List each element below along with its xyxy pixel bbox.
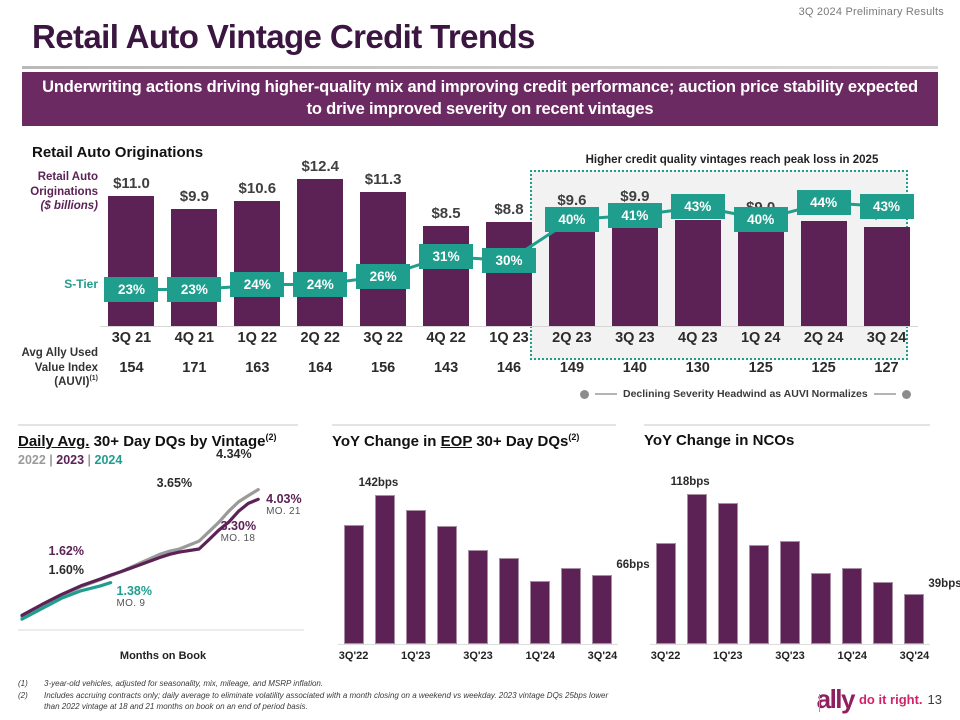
y-axis-label-line1: Retail Auto <box>38 171 98 183</box>
severity-note-end-dot <box>902 390 911 399</box>
nco-x-axis <box>650 644 930 645</box>
line-annotation: 4.34% <box>216 447 251 461</box>
mini-x-tick-label: 1Q'24 <box>822 650 882 662</box>
line-annotation-month: MO. 18 <box>221 533 256 544</box>
bar-value-label: $11.0 <box>96 175 166 192</box>
mini-bar <box>468 550 488 645</box>
stier-value-node: 44% <box>797 190 851 215</box>
origination-bar <box>171 209 217 326</box>
line-annotation-value: 1.60% <box>49 563 84 577</box>
origination-bar <box>297 179 343 326</box>
line-annotation-month: MO. 9 <box>117 598 152 609</box>
line-annotation-value: 1.38% <box>117 584 152 598</box>
quarter-label: 3Q 21 <box>96 330 166 346</box>
auvi-value: 125 <box>726 360 796 376</box>
origination-bar <box>108 196 154 326</box>
mini-x-tick-label: 1Q'23 <box>698 650 758 662</box>
mini-bar-value-label: 118bps <box>671 476 710 488</box>
main-chart-plot-area: $11.0$9.9$10.6$12.4$11.3$8.5$8.8$9.6$9.9… <box>100 170 918 326</box>
mini-bar <box>437 526 457 644</box>
origination-bar <box>738 220 784 326</box>
page-title: Retail Auto Vintage Credit Trends <box>32 18 535 56</box>
mini-x-tick-label: 1Q'23 <box>386 650 446 662</box>
panel-title-eop: YoY Change in EOP 30+ Day DQs(2) <box>332 432 579 450</box>
mini-bar <box>749 545 769 644</box>
severity-note-right-line <box>874 393 896 395</box>
footnote-number: (1) <box>18 678 36 690</box>
months-on-book-label: Months on Book <box>18 650 308 662</box>
mini-x-tick-label: 3Q'24 <box>572 650 632 662</box>
mini-bar-value-label: 142bps <box>359 477 399 489</box>
mini-bar <box>811 573 831 644</box>
panel-divider <box>644 424 930 426</box>
auvi-value: 125 <box>789 360 859 376</box>
yoy-eop-dq-panel: YoY Change in EOP 30+ Day DQs(2) 3Q'2214… <box>332 424 632 674</box>
origination-bar <box>423 226 469 326</box>
stier-axis-label: S-Tier <box>8 277 98 291</box>
quarter-label: 3Q 22 <box>348 330 418 346</box>
auvi-value: 171 <box>159 360 229 376</box>
quarter-label: 1Q 22 <box>222 330 292 346</box>
stier-value-node: 41% <box>608 203 662 228</box>
mini-bar <box>592 575 612 644</box>
panel-title-eop-a: YoY Change in <box>332 433 441 450</box>
auvi-value: 140 <box>600 360 670 376</box>
quarter-label: 4Q 21 <box>159 330 229 346</box>
origination-bar <box>801 221 847 326</box>
mini-x-tick-label: 3Q'23 <box>760 650 820 662</box>
severity-note-start-dot <box>580 390 589 399</box>
line-annotation-value: 3.30% <box>221 519 256 533</box>
stier-value-node: 40% <box>545 207 599 232</box>
panel-divider <box>332 424 616 426</box>
line-annotation: 3.30%MO. 18 <box>221 519 256 544</box>
yoy-nco-panel: YoY Change in NCOs 3Q'22118bps1Q'233Q'23… <box>644 424 944 674</box>
auvi-value: 154 <box>96 360 166 376</box>
logo-tagline: do it right. <box>859 693 923 706</box>
eop-bars-plot <box>338 476 618 644</box>
auvi-value: 149 <box>537 360 607 376</box>
auvi-value: 163 <box>222 360 292 376</box>
logo-wordmark: ally <box>817 686 854 712</box>
mini-bar <box>842 568 862 644</box>
quarter-label: 3Q 23 <box>600 330 670 346</box>
panel-title-eop-b: 30+ Day DQs <box>472 433 568 450</box>
origination-bar <box>675 220 721 326</box>
auvi-label-line3: (AUVI) <box>54 376 89 388</box>
quarter-label: 2Q 22 <box>285 330 355 346</box>
stier-value-node: 24% <box>230 272 284 297</box>
severity-note-left-line <box>595 393 617 395</box>
quarter-label: 2Q 23 <box>537 330 607 346</box>
eop-x-axis <box>338 644 618 645</box>
panel-divider <box>18 424 298 426</box>
auvi-value: 156 <box>348 360 418 376</box>
mini-x-tick-label: 3Q'22 <box>636 650 696 662</box>
line-annotation: 1.38%MO. 9 <box>117 584 152 609</box>
quarter-label: 4Q 23 <box>663 330 733 346</box>
mini-bar <box>718 503 738 644</box>
mini-bar <box>561 568 581 644</box>
footnote-text: Includes accruing contracts only; daily … <box>44 690 618 713</box>
quarter-label: 3Q 24 <box>852 330 922 346</box>
footnote-text: 3-year-old vehicles, adjusted for season… <box>44 678 323 690</box>
panel-title-dq-footnote: (2) <box>265 432 276 442</box>
ally-logo: ally do it right. 13 <box>817 686 942 712</box>
stier-value-node: 31% <box>419 244 473 269</box>
bar-value-label: $10.6 <box>222 180 292 197</box>
mini-bar <box>499 558 519 644</box>
key-message-banner: Underwriting actions driving higher-qual… <box>22 72 938 126</box>
key-message-text: Underwriting actions driving higher-qual… <box>40 77 920 121</box>
panel-title-nco: YoY Change in NCOs <box>644 432 794 449</box>
footnote-row: (1)3-year-old vehicles, adjusted for sea… <box>18 678 618 690</box>
bar-value-label: $8.5 <box>411 205 481 222</box>
quarter-label: 4Q 22 <box>411 330 481 346</box>
stier-value-node: 24% <box>293 272 347 297</box>
auvi-value: 130 <box>663 360 733 376</box>
line-annotation-value: 4.03% <box>266 492 301 506</box>
daily-avg-dq-panel: Daily Avg. 30+ Day DQs by Vintage(2) 202… <box>18 424 318 674</box>
auvi-axis-label: Avg Ally Used Value Index (AUVI)(1) <box>4 346 98 390</box>
severity-note-text: Declining Severity Headwind as AUVI Norm… <box>623 388 868 400</box>
line-annotation-value: 3.65% <box>157 476 192 490</box>
mini-bar <box>873 582 893 644</box>
preliminary-results-eyebrow: 3Q 2024 Preliminary Results <box>799 6 944 18</box>
mini-bar-value-label: 39bps <box>928 578 960 590</box>
y-axis-label-line2: Originations <box>30 186 98 198</box>
panel-title-eop-footnote: (2) <box>568 432 579 442</box>
line-annotation: 1.60% <box>49 563 84 577</box>
quarter-label: 1Q 24 <box>726 330 796 346</box>
stier-value-node: 43% <box>860 194 914 219</box>
origination-bar <box>864 227 910 326</box>
severity-headwind-note: Declining Severity Headwind as AUVI Norm… <box>580 388 920 400</box>
y-axis-label-units: ($ billions) <box>41 200 99 212</box>
quarter-label: 1Q 23 <box>474 330 544 346</box>
panel-title-eop-underlined: EOP <box>441 433 472 450</box>
bar-value-label: $12.4 <box>285 158 355 175</box>
footnotes: (1)3-year-old vehicles, adjusted for sea… <box>18 678 618 713</box>
stier-value-node: 23% <box>104 277 158 302</box>
line-annotation: 1.62% <box>49 544 84 558</box>
panel-title-dq-underlined: Daily Avg. <box>18 433 89 450</box>
mini-x-tick-label: 3Q'22 <box>324 650 384 662</box>
quarter-label: 2Q 24 <box>789 330 859 346</box>
chart-title: Retail Auto Originations <box>32 144 203 161</box>
mini-x-tick-label: 1Q'24 <box>510 650 570 662</box>
title-divider <box>22 66 938 69</box>
mini-bar <box>344 525 364 644</box>
auvi-value: 164 <box>285 360 355 376</box>
auvi-footnote-marker: (1) <box>89 376 98 383</box>
auvi-value: 146 <box>474 360 544 376</box>
page-number: 13 <box>928 693 942 706</box>
bar-value-label: $11.3 <box>348 171 418 188</box>
line-annotation-value: 4.34% <box>216 447 251 461</box>
stier-value-node: 30% <box>482 248 536 273</box>
footnote-number: (2) <box>18 690 36 713</box>
line-annotation: 3.65% <box>157 476 192 490</box>
origination-bar <box>360 192 406 326</box>
origination-bar <box>234 201 280 326</box>
retail-auto-originations-chart: Retail Auto Originations Higher credit q… <box>0 132 960 404</box>
logo-divider <box>819 694 820 712</box>
stier-value-node: 43% <box>671 194 725 219</box>
auvi-label-line2: Value Index <box>35 362 98 374</box>
stier-value-node: 23% <box>167 277 221 302</box>
line-annotation: 4.03%MO. 21 <box>266 492 301 517</box>
bar-value-label: $9.9 <box>159 188 229 205</box>
mini-bar <box>904 594 924 644</box>
auvi-value: 143 <box>411 360 481 376</box>
nco-bars-plot <box>650 476 930 644</box>
mini-bar <box>687 494 707 644</box>
mini-bar <box>656 543 676 644</box>
highlight-caption: Higher credit quality vintages reach pea… <box>532 154 932 166</box>
footnote-row: (2)Includes accruing contracts only; dai… <box>18 690 618 713</box>
bar-value-label: $8.8 <box>474 201 544 218</box>
stier-value-node: 26% <box>356 264 410 289</box>
vintage-line-2024 <box>22 583 111 620</box>
auvi-value: 127 <box>852 360 922 376</box>
y-axis-label: Retail Auto Originations ($ billions) <box>8 170 98 214</box>
mini-bar <box>406 510 426 644</box>
auvi-label-line1: Avg Ally Used <box>22 347 98 359</box>
mini-bar <box>530 581 550 644</box>
x-axis-line <box>100 326 918 327</box>
mini-bar <box>780 541 800 644</box>
mini-bar <box>375 495 395 644</box>
mini-x-tick-label: 3Q'24 <box>884 650 944 662</box>
stier-value-node: 40% <box>734 207 788 232</box>
mini-x-tick-label: 3Q'23 <box>448 650 508 662</box>
line-annotation-value: 1.62% <box>49 544 84 558</box>
line-annotation-month: MO. 21 <box>266 506 301 517</box>
origination-bar <box>486 222 532 326</box>
